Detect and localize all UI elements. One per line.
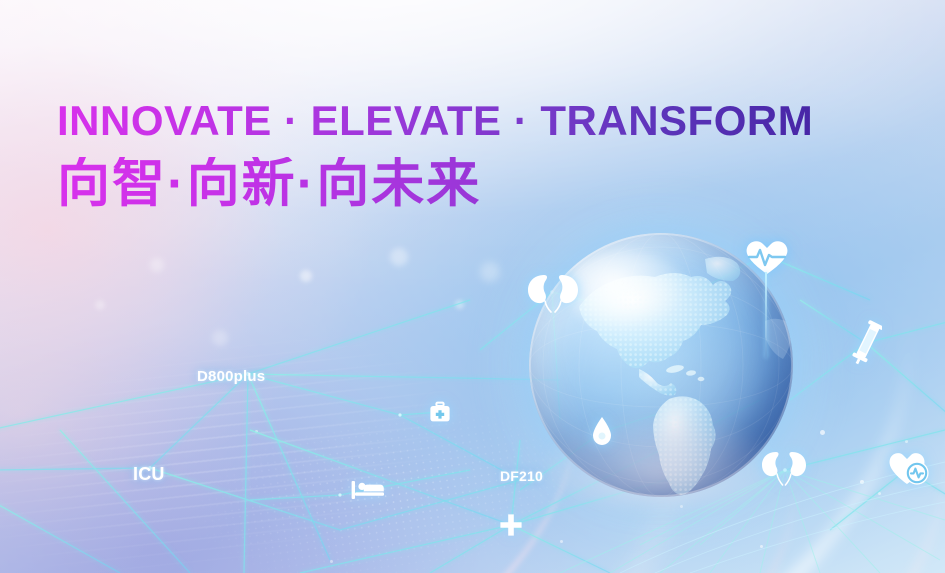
pin-stem [765,272,767,358]
hospital-bed-icon[interactable] [350,477,386,503]
page-title-chinese: 向智·向新·向未来 [57,157,813,211]
kidneys-icon[interactable] [525,270,581,314]
heart-ecg-badge [744,238,790,276]
blood-drop-icon[interactable] [590,416,614,446]
medical-kit-icon[interactable] [428,400,452,424]
bokeh-particle [95,300,105,310]
heart-pulse-pin-icon[interactable] [744,238,790,276]
kidneys-icon-2[interactable] [760,448,808,488]
bokeh-particle [878,492,881,495]
syringe-icon[interactable] [852,318,882,368]
network-label-df210[interactable]: DF210 [500,468,543,484]
bokeh-particle [860,480,864,484]
bokeh-particle [760,545,763,548]
bokeh-particle [300,270,312,282]
bokeh-particle [150,258,164,272]
hero-banner: D800plus ICU DF210 INNOVATE · ELEVATE · … [0,0,945,573]
globe-bottom-glow [545,418,777,508]
headline-block: INNOVATE · ELEVATE · TRANSFORM 向智·向新·向未来 [57,100,813,211]
medical-cross-icon[interactable] [499,513,523,537]
page-title-english: INNOVATE · ELEVATE · TRANSFORM [57,100,813,142]
network-label-icu[interactable]: ICU [133,464,165,485]
bokeh-particle [905,440,908,443]
heart-monitor-icon[interactable] [886,448,932,488]
network-label-d800plus[interactable]: D800plus [197,368,265,385]
